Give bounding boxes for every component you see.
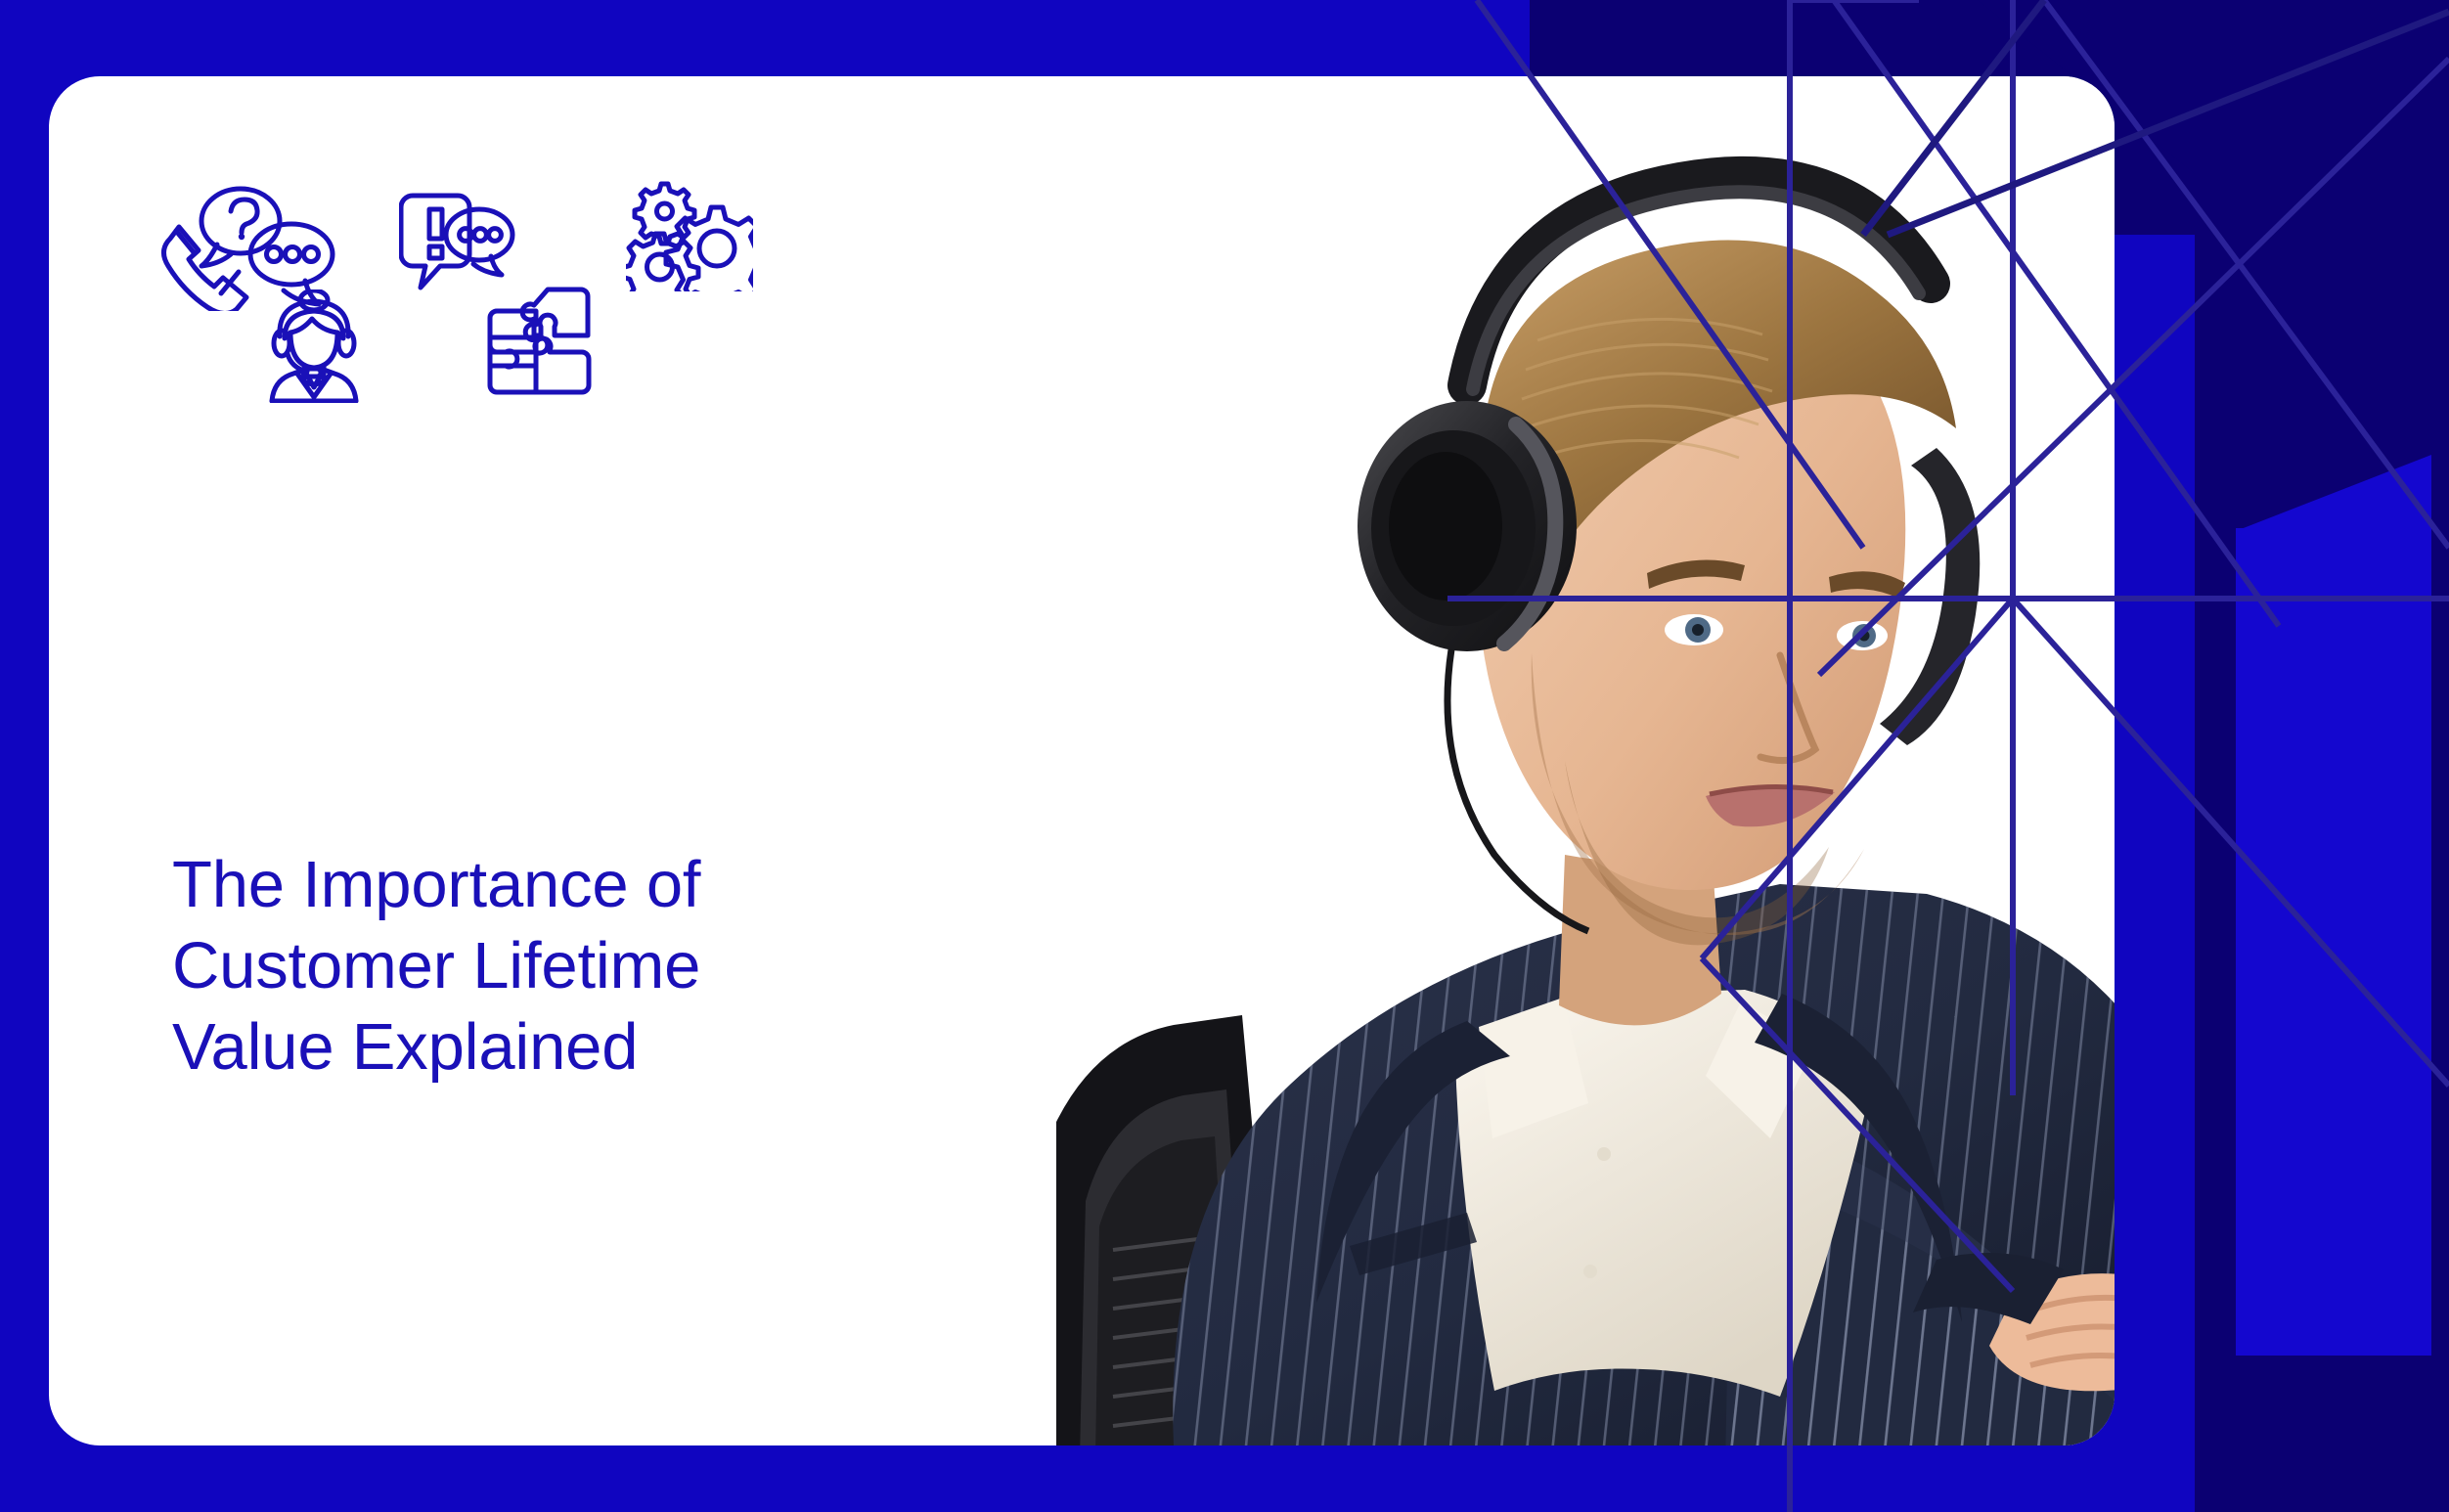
banner-canvas: The Importance of Customer Lifetime Valu… [0,0,2449,1512]
puzzle-pieces-icon [485,282,593,399]
title-line-3: Value Explained [172,1006,779,1088]
alert-chat-bubbles-icon [399,188,516,295]
support-agent-icon [260,289,368,403]
icon-cluster [156,174,782,409]
content-card: The Importance of Customer Lifetime Valu… [49,76,2115,1445]
right-accent-triangle [2236,455,2431,531]
bottom-right-navy-block [2236,1356,2431,1512]
title-line-2: Customer Lifetime [172,925,779,1006]
gears-icon [626,174,753,291]
support-agent-photo [1056,76,2115,1445]
page-title: The Importance of Customer Lifetime Valu… [172,844,779,1088]
title-line-1: The Importance of [172,844,779,925]
right-accent-band [2236,528,2431,1379]
